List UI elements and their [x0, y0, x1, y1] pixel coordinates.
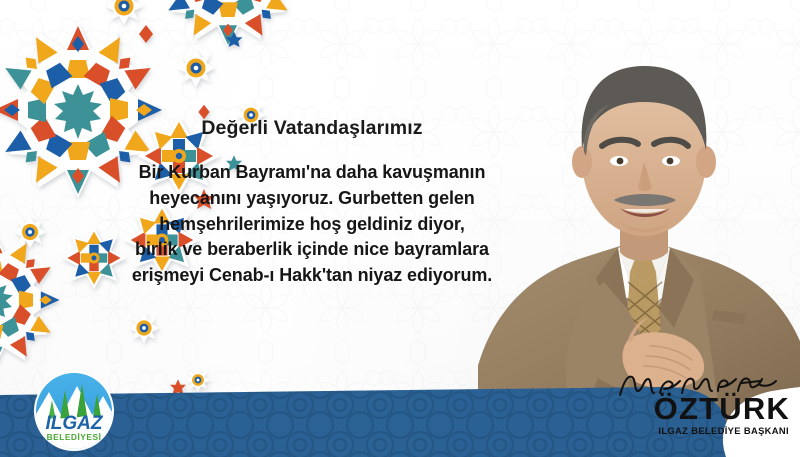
logo-wordmark: ILGAZ	[46, 413, 104, 434]
greeting-card: Değerli Vatandaşlarımız Bir Kurban Bayra…	[0, 0, 800, 457]
signature-block: ÖZTÜRK ILGAZ BELEDİYE BAŞKANI	[606, 367, 796, 453]
logo-subtitle: BELEDİYESİ	[47, 432, 102, 442]
page-title: Değerli Vatandaşlarımız	[96, 116, 528, 140]
signature-title: ILGAZ BELEDİYE BAŞKANI	[658, 425, 789, 436]
greeting-message: Bir Kurban Bayramı'na daha kavuşmanın he…	[92, 160, 532, 289]
signature-surname: ÖZTÜRK	[654, 393, 790, 424]
ilgaz-municipality-logo[interactable]: ILGAZ BELEDİYESİ	[33, 370, 115, 452]
